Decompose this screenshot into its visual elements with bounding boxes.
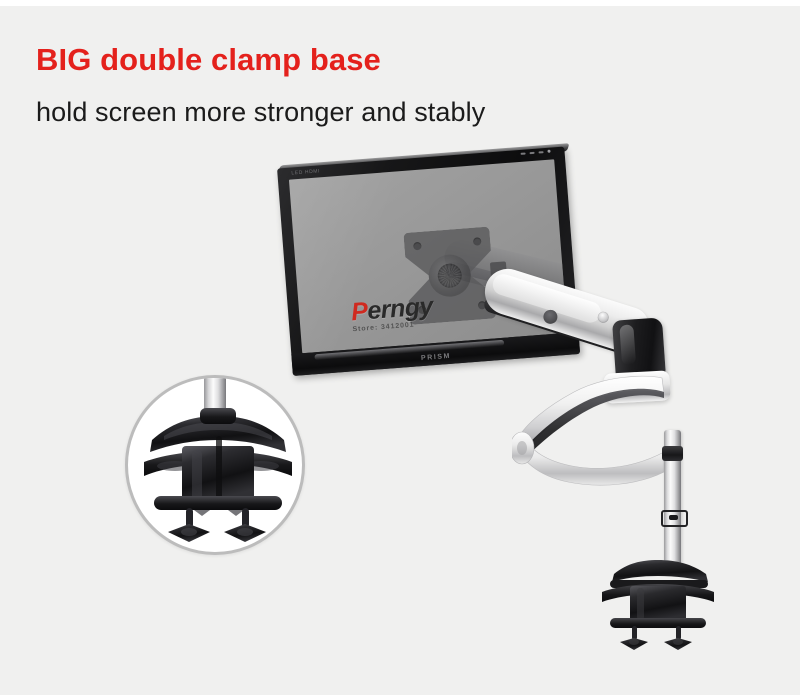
- desk-clamp-base: [596, 556, 720, 652]
- arm-lower-shape: [512, 372, 680, 492]
- monitor-brand-label: PRISM: [421, 353, 452, 362]
- mount-pole: [664, 430, 681, 570]
- product-banner: BIG double clamp base hold screen more s…: [0, 0, 800, 695]
- desk-clamp-shape: [596, 556, 720, 652]
- monitor-screen: Perngy Store: 3412001: [289, 159, 568, 353]
- clamp-detail-inset: [125, 375, 305, 555]
- product-photo: LED HDMI: [0, 0, 800, 695]
- monitor: LED HDMI: [277, 147, 580, 376]
- head-block-gloss: [619, 324, 636, 365]
- pole-cable-clip: [661, 510, 688, 527]
- seller-watermark: Perngy Store: 3412001: [350, 294, 434, 333]
- inset-clamp-shape: [142, 406, 294, 546]
- arm-lower-segment: [512, 372, 680, 492]
- pole-collar: [662, 446, 683, 461]
